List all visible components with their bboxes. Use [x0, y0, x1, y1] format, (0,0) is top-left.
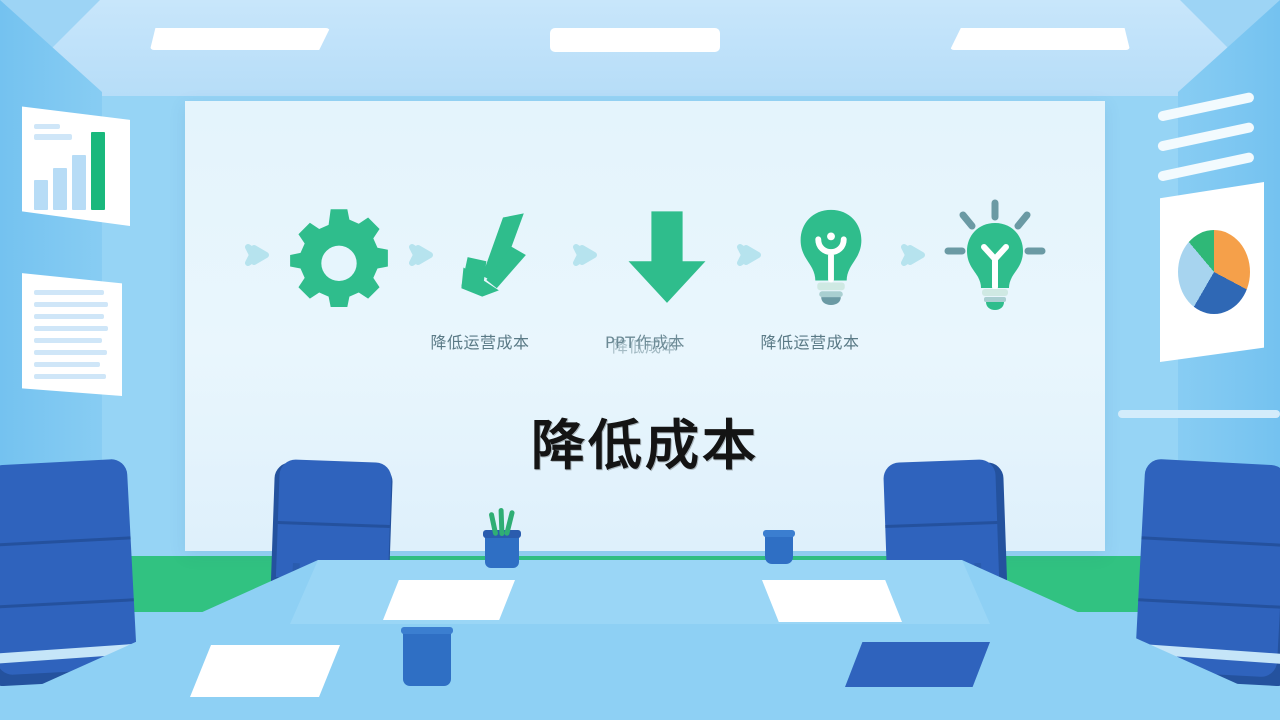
conference-room-scene: 降低运营成本 PPT作成本 降低成本 降低运营成本 降低成本 — [0, 0, 1280, 720]
pie-chart-poster — [1160, 182, 1264, 362]
pen-holder — [485, 534, 519, 568]
flow-label-slot-3: 降低运营成本 — [728, 329, 893, 353]
declining-chart-icon — [443, 203, 563, 307]
poster-bar-1 — [34, 180, 48, 210]
flow-labels: 降低运营成本 PPT作成本 降低成本 降低运营成本 — [185, 329, 1105, 353]
poster-bars — [34, 132, 105, 210]
cup-center-left — [765, 534, 793, 564]
flow-label-3: 降低运营成本 — [760, 333, 859, 352]
flow-label-1: 降低运营成本 — [430, 333, 529, 352]
paper-right-back — [762, 580, 902, 622]
chevron-right-icon — [235, 238, 279, 272]
cup-front-left — [403, 631, 451, 686]
document-poster — [22, 268, 122, 396]
chevron-right-icon — [727, 238, 771, 272]
chevron-right-icon — [891, 238, 935, 272]
lightbulb-rays-icon — [935, 199, 1055, 311]
bar-chart-poster — [22, 104, 130, 226]
paper-left-back — [383, 580, 515, 620]
laptop-device — [845, 642, 990, 687]
down-arrow-icon — [607, 203, 727, 307]
process-flow — [185, 195, 1105, 315]
ceiling-light-1 — [150, 28, 330, 50]
wall-ledge — [1118, 410, 1280, 418]
flow-label-2: PPT作成本 降低成本 — [605, 333, 685, 352]
flow-label-2-overlay: 降低成本 — [612, 333, 678, 357]
poster-bar-4 — [91, 132, 105, 210]
pie-chart — [1178, 230, 1250, 314]
flow-label-slot-2: PPT作成本 降低成本 — [563, 329, 728, 353]
poster-bar-2 — [53, 168, 67, 210]
paper-left-front — [190, 645, 340, 697]
lightbulb-icon — [771, 203, 891, 307]
gear-icon — [279, 203, 399, 307]
chevron-right-icon — [563, 238, 607, 272]
flow-label-slot-1: 降低运营成本 — [398, 329, 563, 353]
ceiling-light-3 — [950, 28, 1130, 50]
ceiling-light-2 — [550, 28, 720, 52]
poster-bar-3 — [72, 155, 86, 210]
chevron-right-icon — [399, 238, 443, 272]
